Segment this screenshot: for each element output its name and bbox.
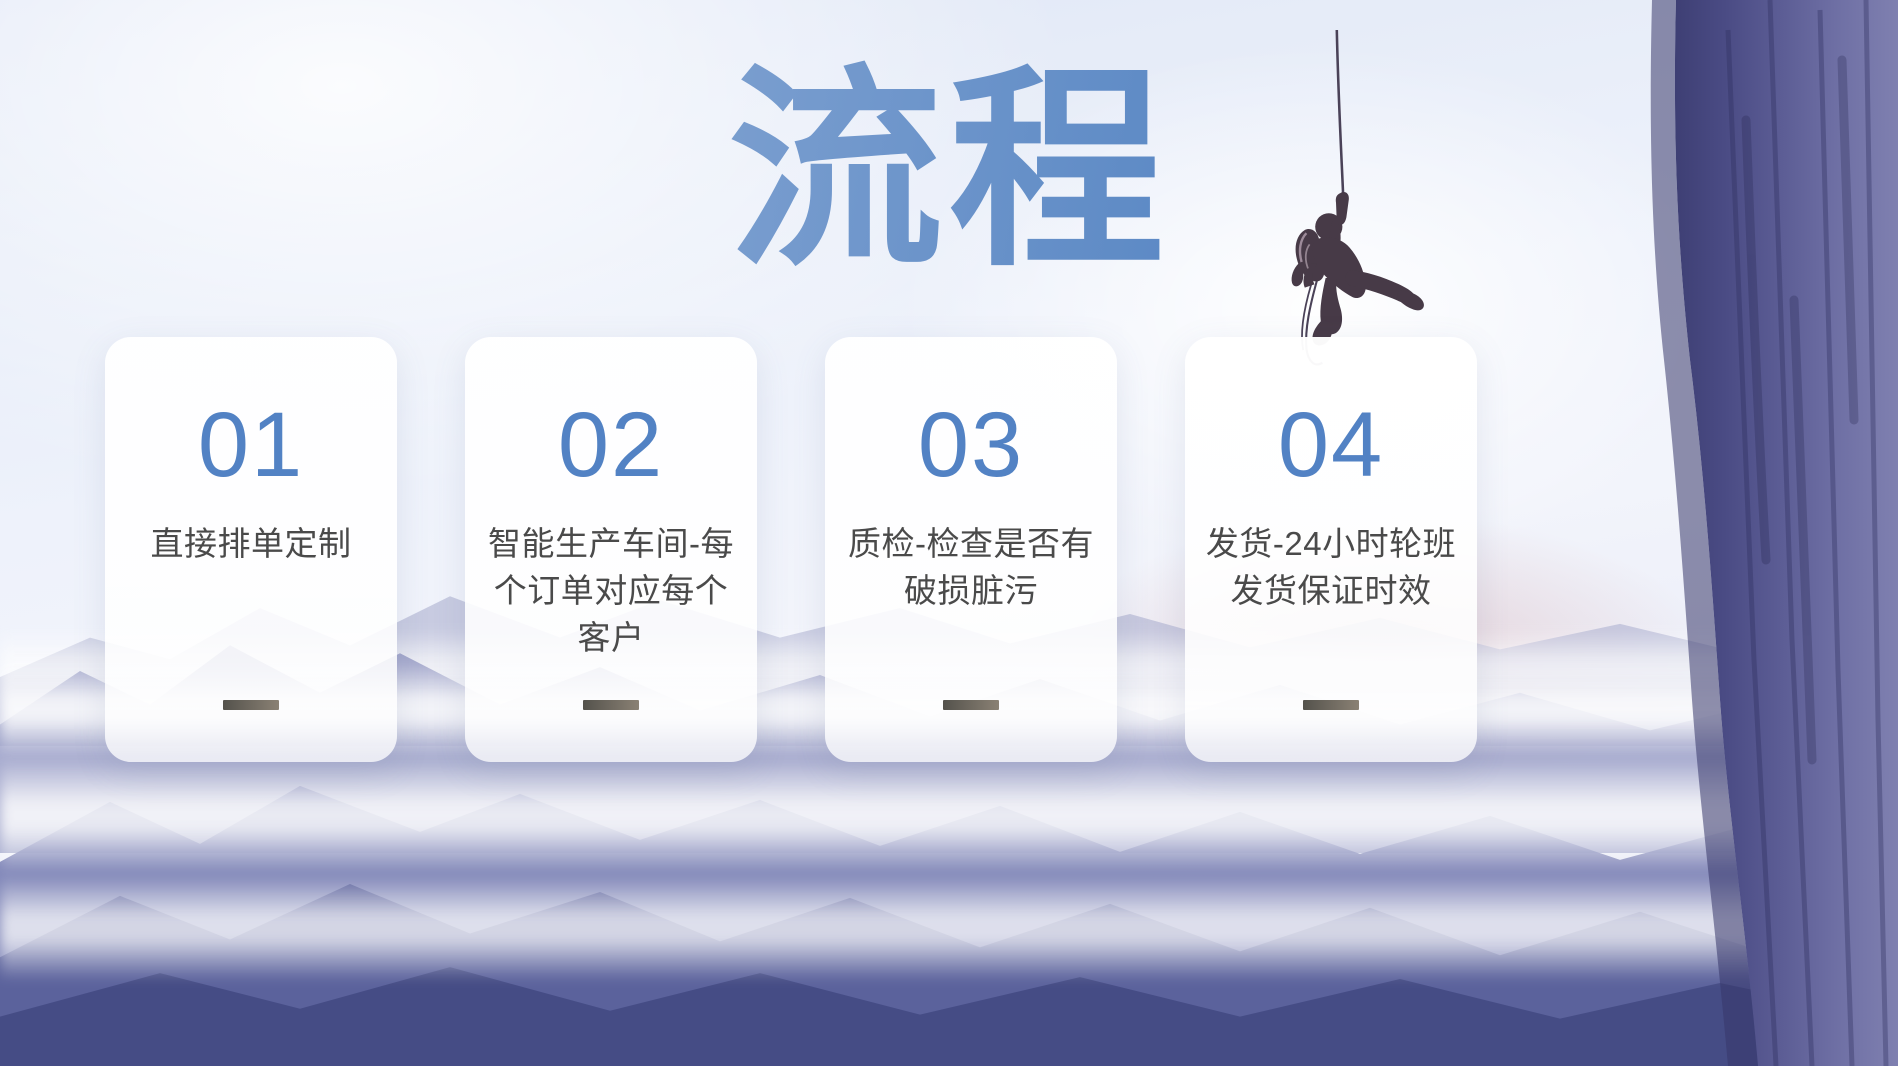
slide-canvas: 流程 01 直接排单定制 02 智能生产车间-每个订单对应每个客户 03 质检-…	[0, 0, 1898, 1066]
card-number: 04	[1278, 399, 1384, 491]
slide-title: 流程	[0, 58, 1898, 284]
process-card-03[interactable]: 03 质检-检查是否有破损脏污	[825, 337, 1117, 762]
fog-band-lower	[0, 757, 1898, 874]
card-dash-marker	[1303, 700, 1359, 710]
card-dash-marker	[223, 700, 279, 710]
mountain-ridge-front	[0, 789, 1898, 1066]
process-card-04[interactable]: 04 发货-24小时轮班发货保证时效	[1185, 337, 1477, 762]
process-card-02[interactable]: 02 智能生产车间-每个订单对应每个客户	[465, 337, 757, 762]
card-description: 直接排单定制	[151, 521, 352, 568]
card-number: 02	[558, 399, 664, 491]
card-description: 发货-24小时轮班发货保证时效	[1205, 521, 1457, 615]
card-number: 01	[198, 399, 304, 491]
card-number: 03	[918, 399, 1024, 491]
card-dash-marker	[943, 700, 999, 710]
process-card-01[interactable]: 01 直接排单定制	[105, 337, 397, 762]
process-card-row: 01 直接排单定制 02 智能生产车间-每个订单对应每个客户 03 质检-检查是…	[105, 337, 1477, 762]
card-dash-marker	[583, 700, 639, 710]
card-description: 质检-检查是否有破损脏污	[845, 521, 1097, 615]
card-description: 智能生产车间-每个订单对应每个客户	[485, 521, 737, 662]
fog-band-bottom	[0, 874, 1898, 981]
